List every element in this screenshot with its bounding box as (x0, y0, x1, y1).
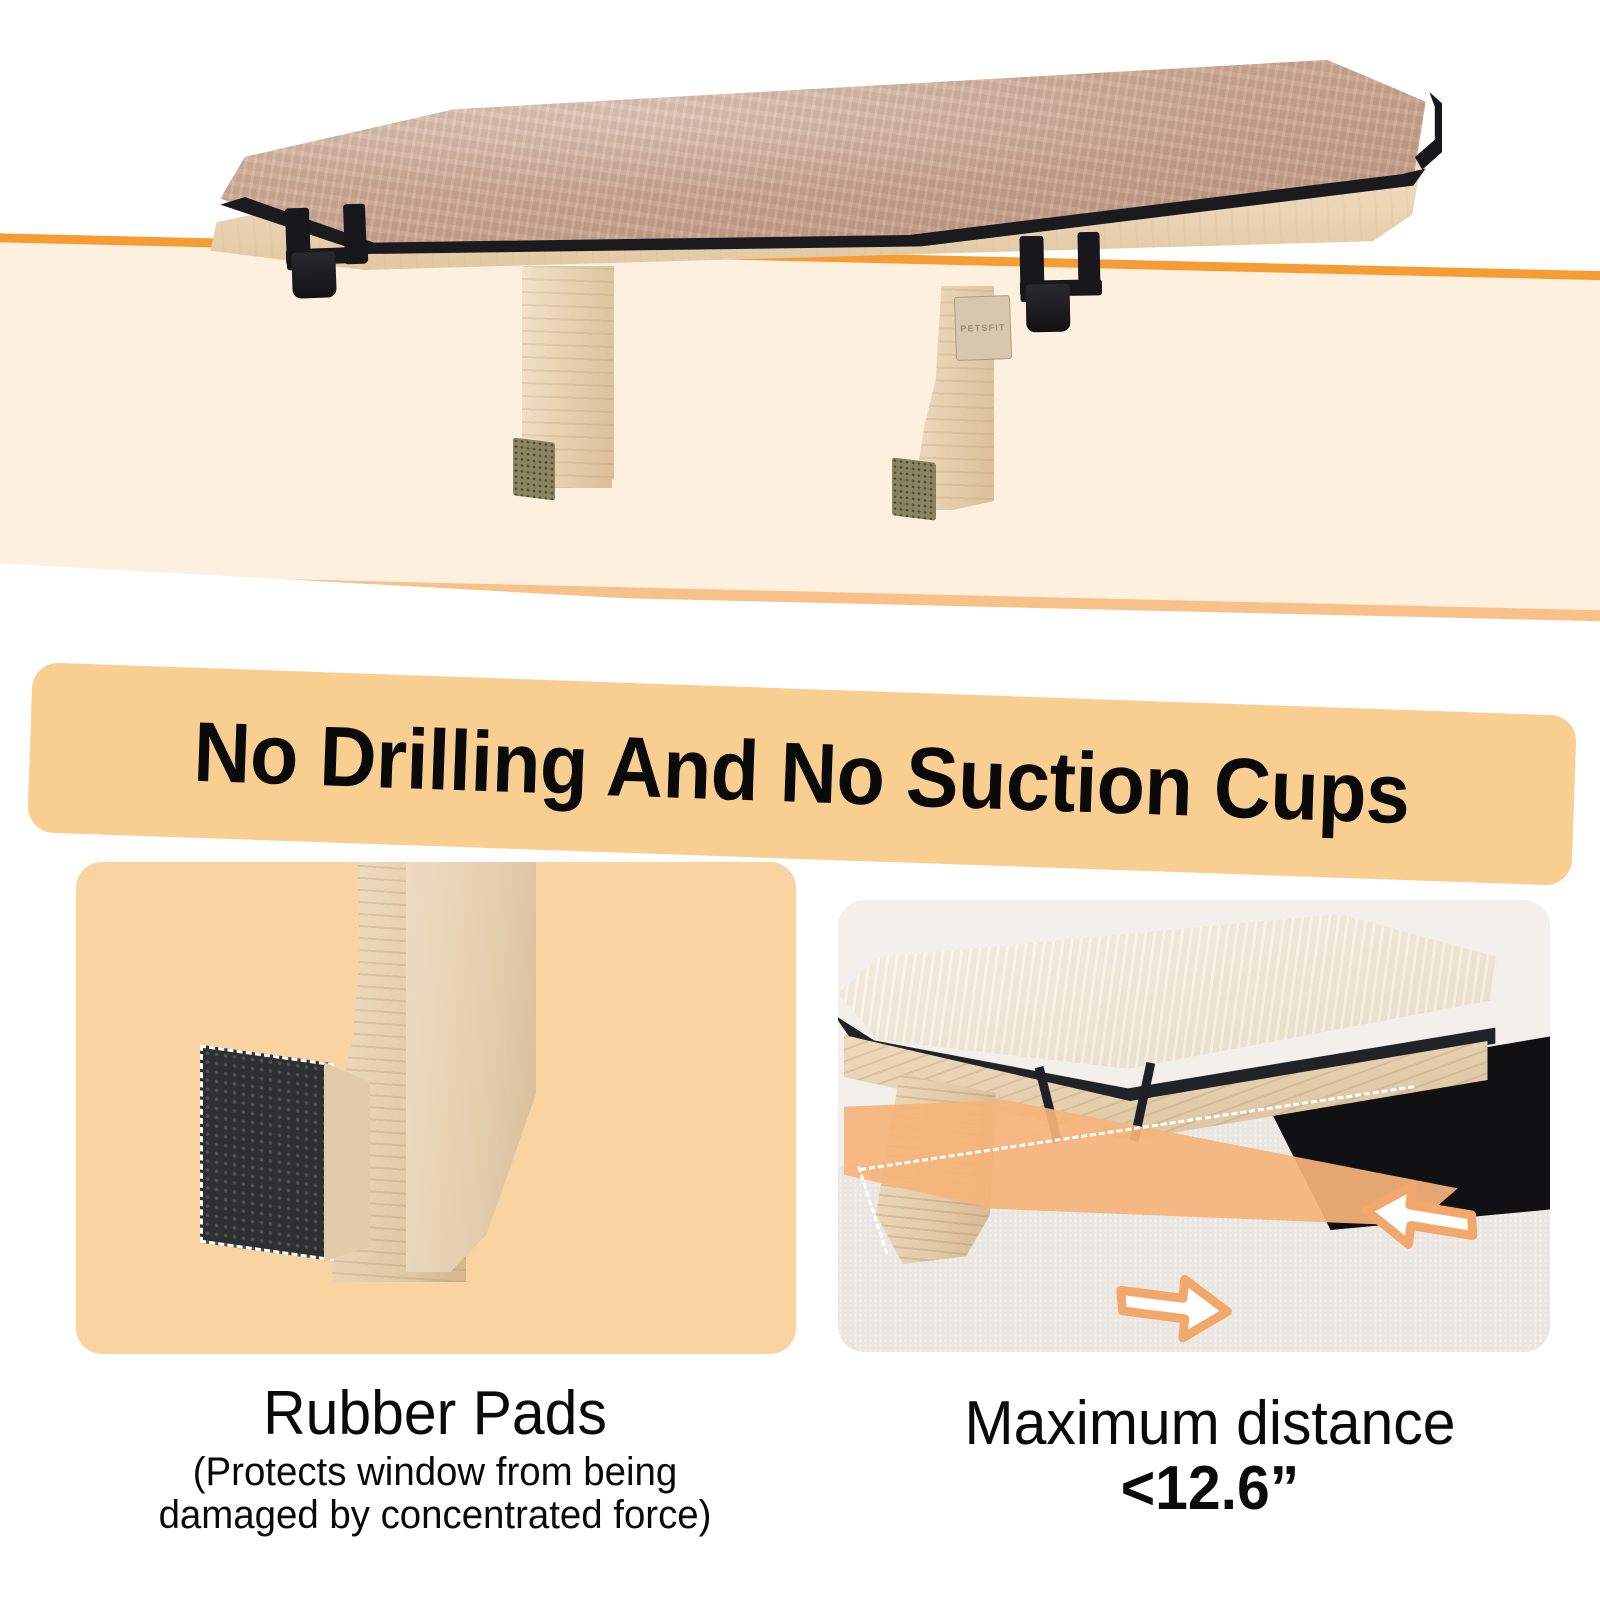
brand-label-text: PETSFIT (960, 322, 1006, 334)
rubber-pad-left (513, 437, 555, 500)
hero-product-image: PETSFIT (0, 0, 1600, 640)
window-sill-band (0, 232, 1600, 623)
caption-maximum-distance-value: <12.6” (849, 1457, 1571, 1521)
clip-left (291, 251, 337, 299)
leg-closeup-side-face (406, 862, 536, 1272)
caption-maximum-distance-title: Maximum distance (849, 1392, 1571, 1455)
panel-maximum-distance (838, 900, 1550, 1352)
headline-banner: No Drilling And No Suction Cups (27, 662, 1577, 886)
caption-maximum-distance: Maximum distance <12.6” (830, 1392, 1590, 1522)
brand-label: PETSFIT (954, 295, 1012, 361)
rubber-pad-highlight (200, 1045, 334, 1262)
plush-mat (208, 58, 1438, 248)
rubber-pad-right (892, 457, 936, 520)
caption-rubber-pads: Rubber Pads (Protects window from being … (40, 1382, 830, 1536)
caption-rubber-pads-sub-line2: damaged by concentrated force) (56, 1494, 814, 1536)
panel-rubber-pad (76, 862, 796, 1354)
clip-right (1026, 284, 1071, 333)
rubber-pad-side-face (324, 1062, 370, 1262)
caption-rubber-pads-title: Rubber Pads (60, 1382, 811, 1445)
caption-rubber-pads-sub-line1: (Protects window from being (56, 1451, 814, 1493)
plush-mat-texture (208, 58, 1438, 248)
headline-text: No Drilling And No Suction Cups (192, 704, 1411, 844)
